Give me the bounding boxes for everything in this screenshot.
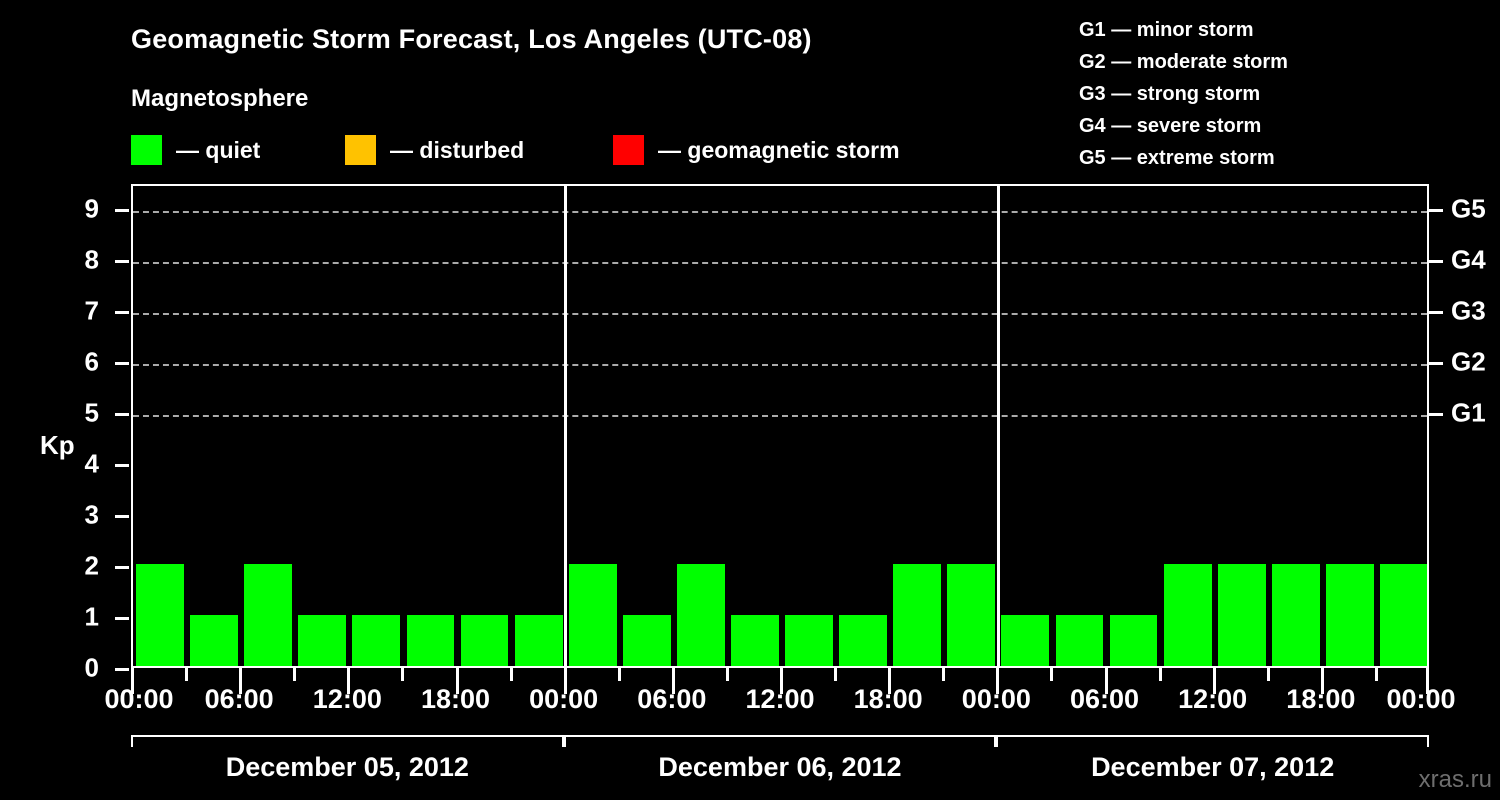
x-tick-minor (293, 668, 296, 681)
gridline-kp-8 (133, 262, 1427, 264)
bar (1001, 615, 1049, 666)
legend-swatch-quiet (131, 135, 162, 165)
time-label: 00:00 (529, 684, 598, 715)
y-tick-label: 9 (85, 194, 99, 225)
plot-inner (133, 186, 1427, 666)
g-tick (1429, 260, 1443, 263)
g-tick-label: G1 (1451, 398, 1486, 429)
y-tick-label: 5 (85, 398, 99, 429)
bar (677, 564, 725, 666)
bar (947, 564, 995, 666)
plot-area (131, 184, 1429, 668)
gridline-kp-9 (133, 211, 1427, 213)
time-label: 18:00 (421, 684, 490, 715)
x-tick-minor (942, 668, 945, 681)
bar (298, 615, 346, 666)
legend-item-disturbed: — disturbed (345, 135, 524, 165)
date-label: December 07, 2012 (996, 752, 1429, 783)
g-tick-label: G3 (1451, 296, 1486, 327)
time-label: 00:00 (104, 684, 173, 715)
chart-subtitle: Magnetosphere (131, 85, 308, 113)
bar (1326, 564, 1374, 666)
bar (1110, 615, 1158, 666)
bar (1380, 564, 1427, 666)
bar (1218, 564, 1266, 666)
day-bracket (564, 735, 997, 747)
gridline-kp-7 (133, 313, 1427, 315)
gscale-legend: G1 — minor storm G2 — moderate storm G3 … (1079, 14, 1288, 174)
bar (461, 615, 509, 666)
x-tick-minor (1375, 668, 1378, 681)
gscale-row-g4: G4 — severe storm (1079, 110, 1288, 142)
time-label: 18:00 (854, 684, 923, 715)
y-tick (115, 617, 129, 620)
g-tick-label: G4 (1451, 245, 1486, 276)
watermark: xras.ru (1419, 766, 1492, 794)
legend-swatch-disturbed (345, 135, 376, 165)
x-tick-minor (510, 668, 513, 681)
y-tick (115, 566, 129, 569)
y-tick-label: 8 (85, 245, 99, 276)
g-tick-label: G2 (1451, 347, 1486, 378)
g-tick (1429, 362, 1443, 365)
legend-label-quiet: — quiet (176, 137, 260, 164)
legend-item-quiet: — quiet (131, 135, 260, 165)
gscale-row-g1: G1 — minor storm (1079, 14, 1288, 46)
time-label: 00:00 (1386, 684, 1455, 715)
day-bracket (996, 735, 1429, 747)
y-tick-label: 6 (85, 347, 99, 378)
bar (839, 615, 887, 666)
time-label: 06:00 (1070, 684, 1139, 715)
x-tick-minor (401, 668, 404, 681)
y-tick (115, 260, 129, 263)
y-tick (115, 413, 129, 416)
y-tick-label: 3 (85, 500, 99, 531)
day-separator (564, 186, 567, 666)
g-scale-axis: G1G2G3G4G5 (1429, 184, 1500, 668)
bar (893, 564, 941, 666)
bar (244, 564, 292, 666)
legend-label-storm: — geomagnetic storm (658, 137, 900, 164)
date-labels: December 05, 2012December 06, 2012Decemb… (131, 752, 1429, 792)
y-tick (115, 515, 129, 518)
gscale-row-g2: G2 — moderate storm (1079, 46, 1288, 78)
x-tick-minor (1159, 668, 1162, 681)
x-tick-minor (618, 668, 621, 681)
y-tick-label: 2 (85, 551, 99, 582)
time-label: 00:00 (962, 684, 1031, 715)
page-title: Geomagnetic Storm Forecast, Los Angeles … (131, 24, 812, 55)
bar (515, 615, 563, 666)
bar (407, 615, 455, 666)
bar (136, 564, 184, 666)
x-tick-minor (726, 668, 729, 681)
gscale-row-g3: G3 — strong storm (1079, 78, 1288, 110)
legend-item-storm: — geomagnetic storm (613, 135, 900, 165)
bar (1272, 564, 1320, 666)
gridline-kp-6 (133, 364, 1427, 366)
time-label: 12:00 (745, 684, 814, 715)
date-label: December 06, 2012 (564, 752, 997, 783)
g-tick (1429, 413, 1443, 416)
bar (190, 615, 238, 666)
bar (785, 615, 833, 666)
time-label: 18:00 (1286, 684, 1355, 715)
y-tick-label: 1 (85, 602, 99, 633)
bar (1056, 615, 1104, 666)
time-label: 06:00 (205, 684, 274, 715)
y-tick (115, 464, 129, 467)
y-tick (115, 311, 129, 314)
x-axis-time-labels: 00:0006:0012:0018:0000:0006:0012:0018:00… (0, 684, 1500, 724)
g-tick (1429, 209, 1443, 212)
bar (569, 564, 617, 666)
bar (1164, 564, 1212, 666)
bar (352, 615, 400, 666)
time-label: 06:00 (637, 684, 706, 715)
y-axis: 0123456789 (0, 184, 131, 668)
day-separator (997, 186, 1000, 666)
x-tick-minor (834, 668, 837, 681)
y-axis-title: Kp (40, 430, 75, 461)
y-tick (115, 668, 129, 671)
x-tick-minor (1267, 668, 1270, 681)
time-label: 12:00 (1178, 684, 1247, 715)
y-tick-label: 0 (85, 653, 99, 684)
g-tick-label: G5 (1451, 194, 1486, 225)
y-tick-label: 7 (85, 296, 99, 327)
legend-label-disturbed: — disturbed (390, 137, 524, 164)
y-tick (115, 209, 129, 212)
bar (731, 615, 779, 666)
date-label: December 05, 2012 (131, 752, 564, 783)
x-tick-minor (185, 668, 188, 681)
gscale-row-g5: G5 — extreme storm (1079, 142, 1288, 174)
day-brackets (131, 735, 1429, 749)
g-tick (1429, 311, 1443, 314)
day-bracket (131, 735, 564, 747)
y-tick (115, 362, 129, 365)
x-tick-minor (1050, 668, 1053, 681)
gridline-kp-5 (133, 415, 1427, 417)
time-label: 12:00 (313, 684, 382, 715)
legend-swatch-storm (613, 135, 644, 165)
bar (623, 615, 671, 666)
y-tick-label: 4 (85, 449, 99, 480)
